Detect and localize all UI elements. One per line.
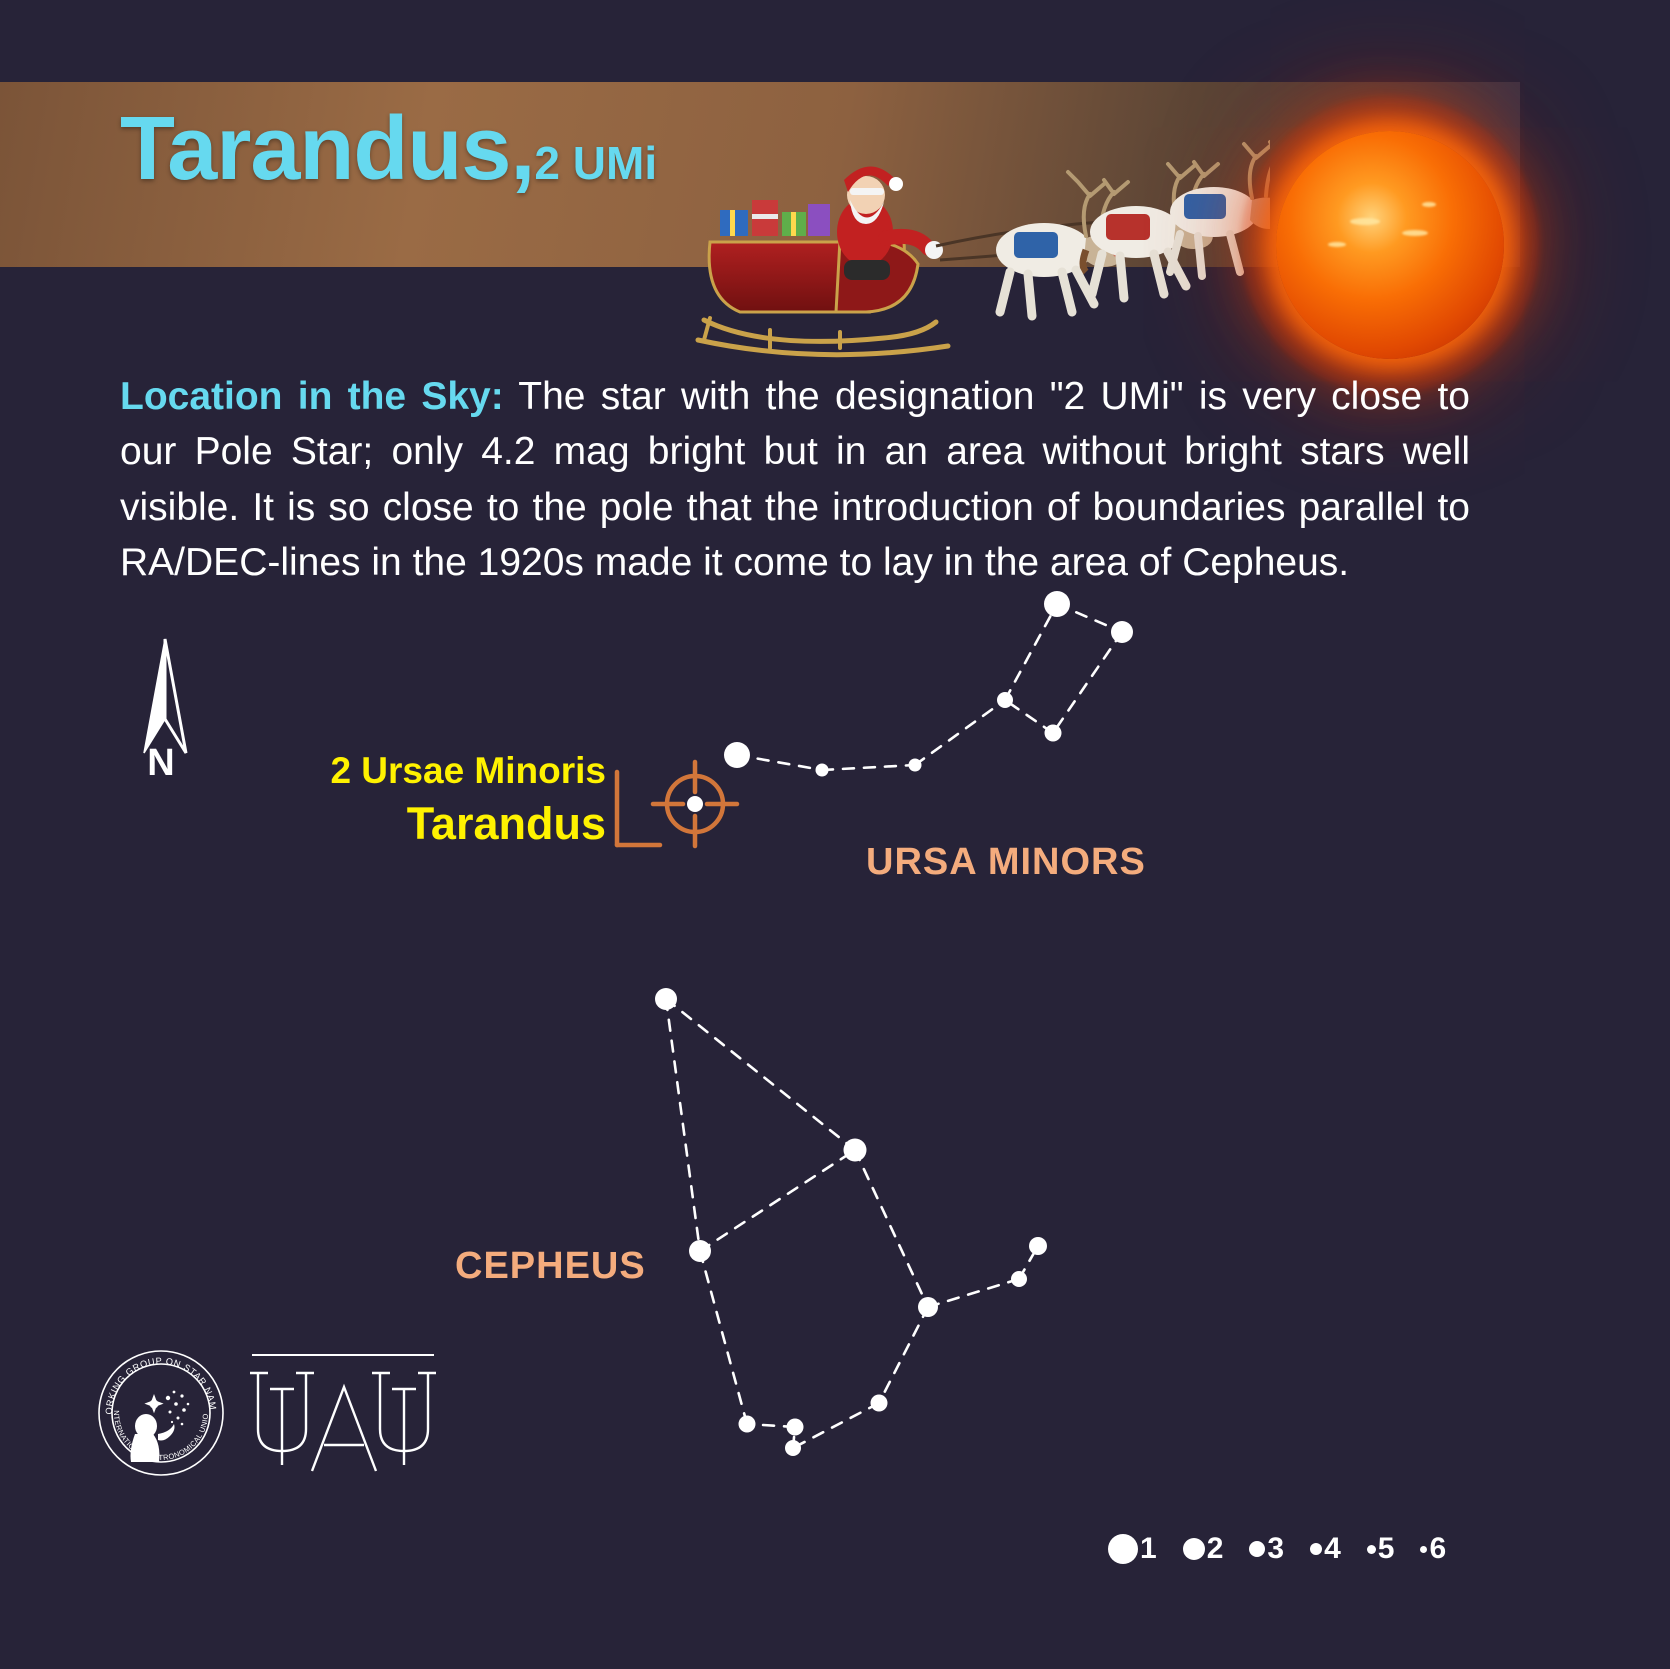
star-dot [1044, 591, 1070, 617]
magnitude-dot-icon [1310, 1543, 1322, 1555]
reindeer-icon [996, 142, 1270, 316]
constellation-cepheus [666, 999, 1038, 1448]
page-title-designation: 2 UMi [534, 137, 657, 189]
target-marker-icon [617, 762, 737, 846]
magnitude-dot-icon [1249, 1541, 1265, 1557]
star-dot [997, 692, 1013, 708]
magnitude-value: 3 [1267, 1532, 1284, 1566]
star-dot [816, 764, 829, 777]
sleigh-icon [698, 200, 948, 355]
page-title: Tarandus,2 UMi [120, 98, 657, 202]
wgsn-seal-logo: WORKING GROUP ON STAR NAMES INTERNATIONA… [96, 1348, 226, 1478]
compass-label: N [136, 742, 186, 785]
magnitude-value: 6 [1429, 1532, 1446, 1566]
star-dot [739, 1416, 756, 1433]
constellation-ursa-minor [737, 604, 1122, 770]
sun-image [1232, 90, 1547, 400]
page-title-main: Tarandus, [120, 99, 534, 199]
header-banner: Tarandus,2 UMi [0, 82, 1520, 267]
star-dot [787, 1419, 804, 1436]
magnitude-dot-icon [1367, 1545, 1376, 1554]
star-dot [844, 1139, 867, 1162]
magnitude-dot-icon [1183, 1538, 1205, 1560]
star-dot [918, 1297, 938, 1317]
iau-logo [248, 1345, 438, 1480]
magnitude-legend-item: 3 [1249, 1532, 1284, 1566]
star-dot [689, 1240, 711, 1262]
santa-icon [837, 166, 943, 280]
magnitude-value: 4 [1324, 1532, 1341, 1566]
target-star-dot [687, 796, 703, 812]
magnitude-dot-icon [1420, 1546, 1427, 1553]
constellation-label-cepheus: CEPHEUS [455, 1245, 646, 1288]
star-proper-name-label: Tarandus [407, 800, 606, 847]
star-dot [871, 1395, 888, 1412]
star-dot [1111, 621, 1133, 643]
star-dot [1045, 725, 1062, 742]
star-designation-label: 2 Ursae Minoris [330, 752, 606, 791]
star-dot [1029, 1237, 1047, 1255]
magnitude-legend-item: 6 [1420, 1532, 1446, 1566]
star-dot [785, 1440, 801, 1456]
star-dot [724, 742, 750, 768]
location-description-label: Location in the Sky: [120, 375, 504, 418]
magnitude-value: 1 [1140, 1532, 1157, 1566]
magnitude-legend: 1 2 3 4 5 6 [1108, 1524, 1446, 1574]
santa-sleigh-reindeer-image [690, 92, 1270, 367]
magnitude-legend-item: 5 [1367, 1532, 1395, 1566]
magnitude-legend-item: 4 [1310, 1532, 1341, 1566]
magnitude-dot-icon [1108, 1534, 1138, 1564]
star-dot [909, 759, 922, 772]
magnitude-value: 2 [1207, 1532, 1224, 1566]
ursa-minor-stars [724, 591, 1133, 777]
magnitude-legend-item: 1 [1108, 1532, 1157, 1566]
cepheus-stars [655, 988, 1047, 1456]
location-description: Location in the Sky: The star with the d… [120, 369, 1470, 591]
magnitude-value: 5 [1378, 1532, 1395, 1566]
magnitude-legend-item: 2 [1183, 1532, 1224, 1566]
star-dot [655, 988, 677, 1010]
star-dot [1011, 1271, 1027, 1287]
constellation-label-ursa-minor: URSA MINORS [866, 841, 1146, 884]
